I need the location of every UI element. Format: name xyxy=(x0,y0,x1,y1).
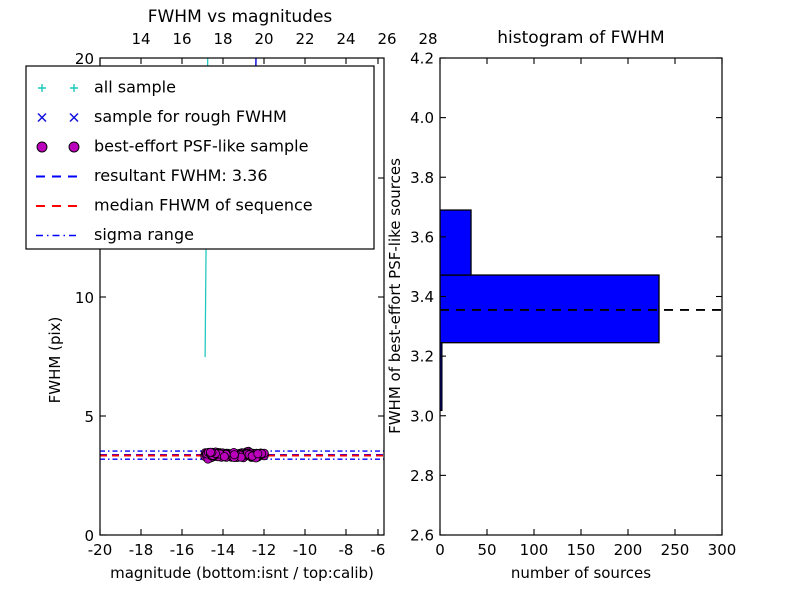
y-tick-label: 0 xyxy=(84,527,94,545)
left-panel-title: FWHM vs magnitudes xyxy=(148,7,333,27)
top-tick-label: 16 xyxy=(172,30,191,48)
bottom-tick-label: -18 xyxy=(129,541,154,559)
x-tick-label: 100 xyxy=(520,541,549,559)
x-tick-label: 300 xyxy=(708,541,737,559)
right-panel-xlabel: number of sources xyxy=(511,564,651,582)
y-tick-label: 3.6 xyxy=(410,228,434,246)
left-panel: FWHM vs magnitudes 14 16 18 20 22 24 26 … xyxy=(26,0,438,582)
matplotlib-figure: FWHM vs magnitudes 14 16 18 20 22 24 26 … xyxy=(0,0,800,600)
right-panel: histogram of FWHM xyxy=(386,28,736,582)
left-panel-top-ticks xyxy=(100,58,378,64)
top-tick-label: 18 xyxy=(213,30,232,48)
right-panel-title: histogram of FWHM xyxy=(497,28,664,48)
top-tick-label: 26 xyxy=(377,30,396,48)
x-tick-label: 200 xyxy=(614,541,643,559)
bottom-tick-label: -8 xyxy=(339,541,354,559)
right-panel-ylabel: FWHM of best-effort PSF-like sources xyxy=(386,158,404,434)
figure-canvas: FWHM vs magnitudes 14 16 18 20 22 24 26 … xyxy=(0,0,800,600)
scatter-psf-sample xyxy=(201,447,269,463)
legend-marker-circle-icon xyxy=(69,142,79,152)
left-panel-bottom-ticks xyxy=(100,529,378,535)
histogram-bar xyxy=(440,210,471,275)
y-tick-label: 4.2 xyxy=(410,50,434,68)
legend-item-label: sample for rough FWHM xyxy=(94,107,287,126)
y-tick-label: 3.2 xyxy=(410,348,434,366)
bottom-tick-label: -16 xyxy=(170,541,195,559)
bottom-tick-label: -10 xyxy=(293,541,318,559)
left-panel-xlabel: magnitude (bottom:isnt / top:calib) xyxy=(110,564,374,582)
right-panel-data-area xyxy=(440,210,722,410)
y-tick-label: 3.4 xyxy=(410,288,434,306)
legend-box xyxy=(26,66,374,249)
x-tick-label: 250 xyxy=(661,541,690,559)
legend-marker-circle-icon xyxy=(37,142,47,152)
legend-item-label: resultant FWHM: 3.36 xyxy=(94,166,268,185)
top-tick-label: 14 xyxy=(131,30,150,48)
y-tick-label: 4.0 xyxy=(410,109,434,127)
y-tick-label: 10 xyxy=(75,289,94,307)
y-tick-label: 2.8 xyxy=(410,467,434,485)
bottom-tick-label: -14 xyxy=(211,541,236,559)
legend-item-label: sigma range xyxy=(94,225,194,244)
right-panel-x-tick-labels: 0 50 100 150 200 250 300 xyxy=(435,541,736,559)
left-panel-bottom-tick-labels: -20 -18 -16 -14 -12 -10 -8 -6 xyxy=(88,541,386,559)
bottom-tick-label: -6 xyxy=(371,541,386,559)
top-tick-label: 24 xyxy=(336,30,355,48)
x-tick-label: 50 xyxy=(477,541,496,559)
histogram-bar xyxy=(440,275,659,343)
x-tick-label: 0 xyxy=(435,541,445,559)
legend-item-label: median FHWM of sequence xyxy=(94,196,313,215)
legend-item-label: all sample xyxy=(94,78,176,97)
top-tick-label: 22 xyxy=(295,30,314,48)
left-panel-ylabel: FWHM (pix) xyxy=(46,317,64,404)
y-tick-label: 3.0 xyxy=(410,407,434,425)
y-tick-label: 5 xyxy=(84,408,94,426)
legend-item-label: best-effort PSF-like sample xyxy=(94,137,308,156)
bottom-tick-label: -12 xyxy=(252,541,277,559)
left-panel-top-tick-labels: 14 16 18 20 22 24 26 28 xyxy=(131,30,437,48)
top-tick-label: 20 xyxy=(254,30,273,48)
y-tick-label: 2.6 xyxy=(410,527,434,545)
x-tick-label: 150 xyxy=(567,541,596,559)
top-tick-label: 28 xyxy=(418,30,437,48)
right-panel-y-tick-labels: 2.62.83.03.23.43.63.84.04.2 xyxy=(410,50,434,545)
legend: all samplesample for rough FWHMbest-effo… xyxy=(26,66,374,249)
y-tick-label: 3.8 xyxy=(410,169,434,187)
y-tick-label: 20 xyxy=(75,50,94,68)
